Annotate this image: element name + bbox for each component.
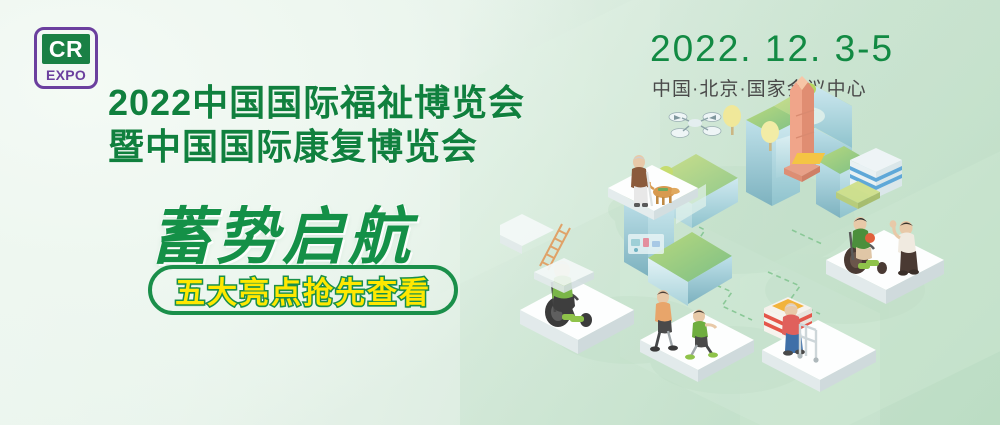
logo-sub-text: EXPO	[46, 67, 86, 83]
cr-expo-logo[interactable]: CR EXPO	[34, 27, 98, 89]
logo-mark-text: CR	[42, 34, 90, 64]
exhibition-banner: CR EXPO 2022中国国际福祉博览会 暨中国国际康复博览会 蓄势启航 五大…	[0, 0, 1000, 425]
isometric-illustration	[500, 20, 1000, 425]
slogan-text: 蓄势启航	[150, 186, 414, 276]
highlights-badge[interactable]: 五大亮点抢先查看	[148, 265, 458, 315]
storefront-interior	[628, 234, 664, 254]
drone-icon	[669, 113, 721, 138]
highlights-badge-label: 五大亮点抢先查看	[175, 268, 431, 312]
far-platform-fragment	[500, 214, 554, 254]
headline-line-2: 暨中国国际康复博览会	[108, 118, 478, 170]
